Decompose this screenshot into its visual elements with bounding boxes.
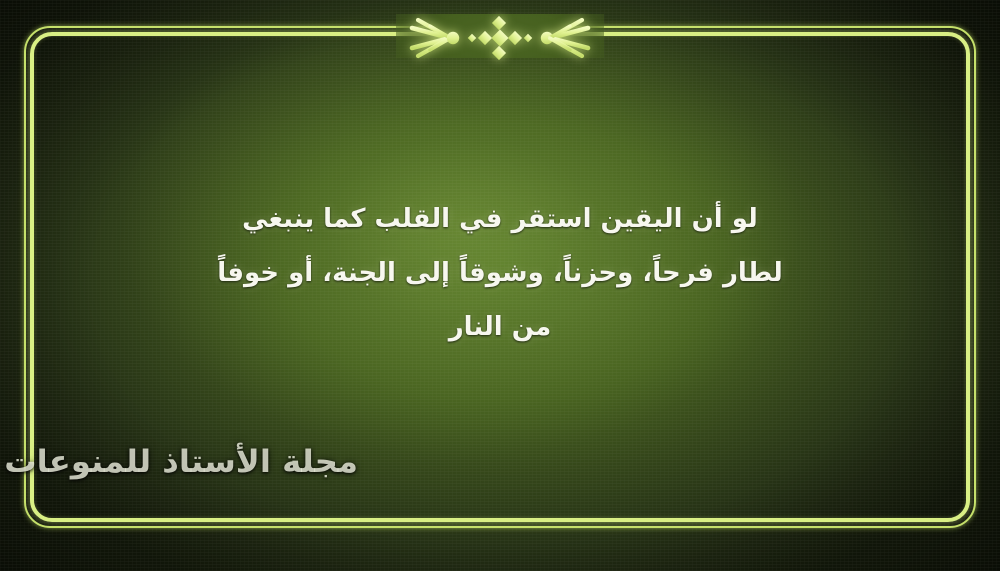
quote-line-3: من النار	[110, 300, 890, 354]
crest-fan-right	[550, 20, 592, 56]
quote-line-2: لطار فرحاً، وحزناً، وشوقاً إلى الجنة، أو…	[110, 246, 890, 300]
crest-fan-left	[408, 20, 450, 56]
crest-finial-left	[447, 32, 459, 44]
quote-line-1: لو أن اليقين استقر في القلب كما ينبغي	[110, 192, 890, 246]
crest-diamond-cluster	[468, 16, 532, 60]
quote-text: لو أن اليقين استقر في القلب كما ينبغي لط…	[110, 192, 890, 354]
crest-ornament	[390, 14, 610, 62]
quote-poster: لو أن اليقين استقر في القلب كما ينبغي لط…	[0, 0, 1000, 571]
